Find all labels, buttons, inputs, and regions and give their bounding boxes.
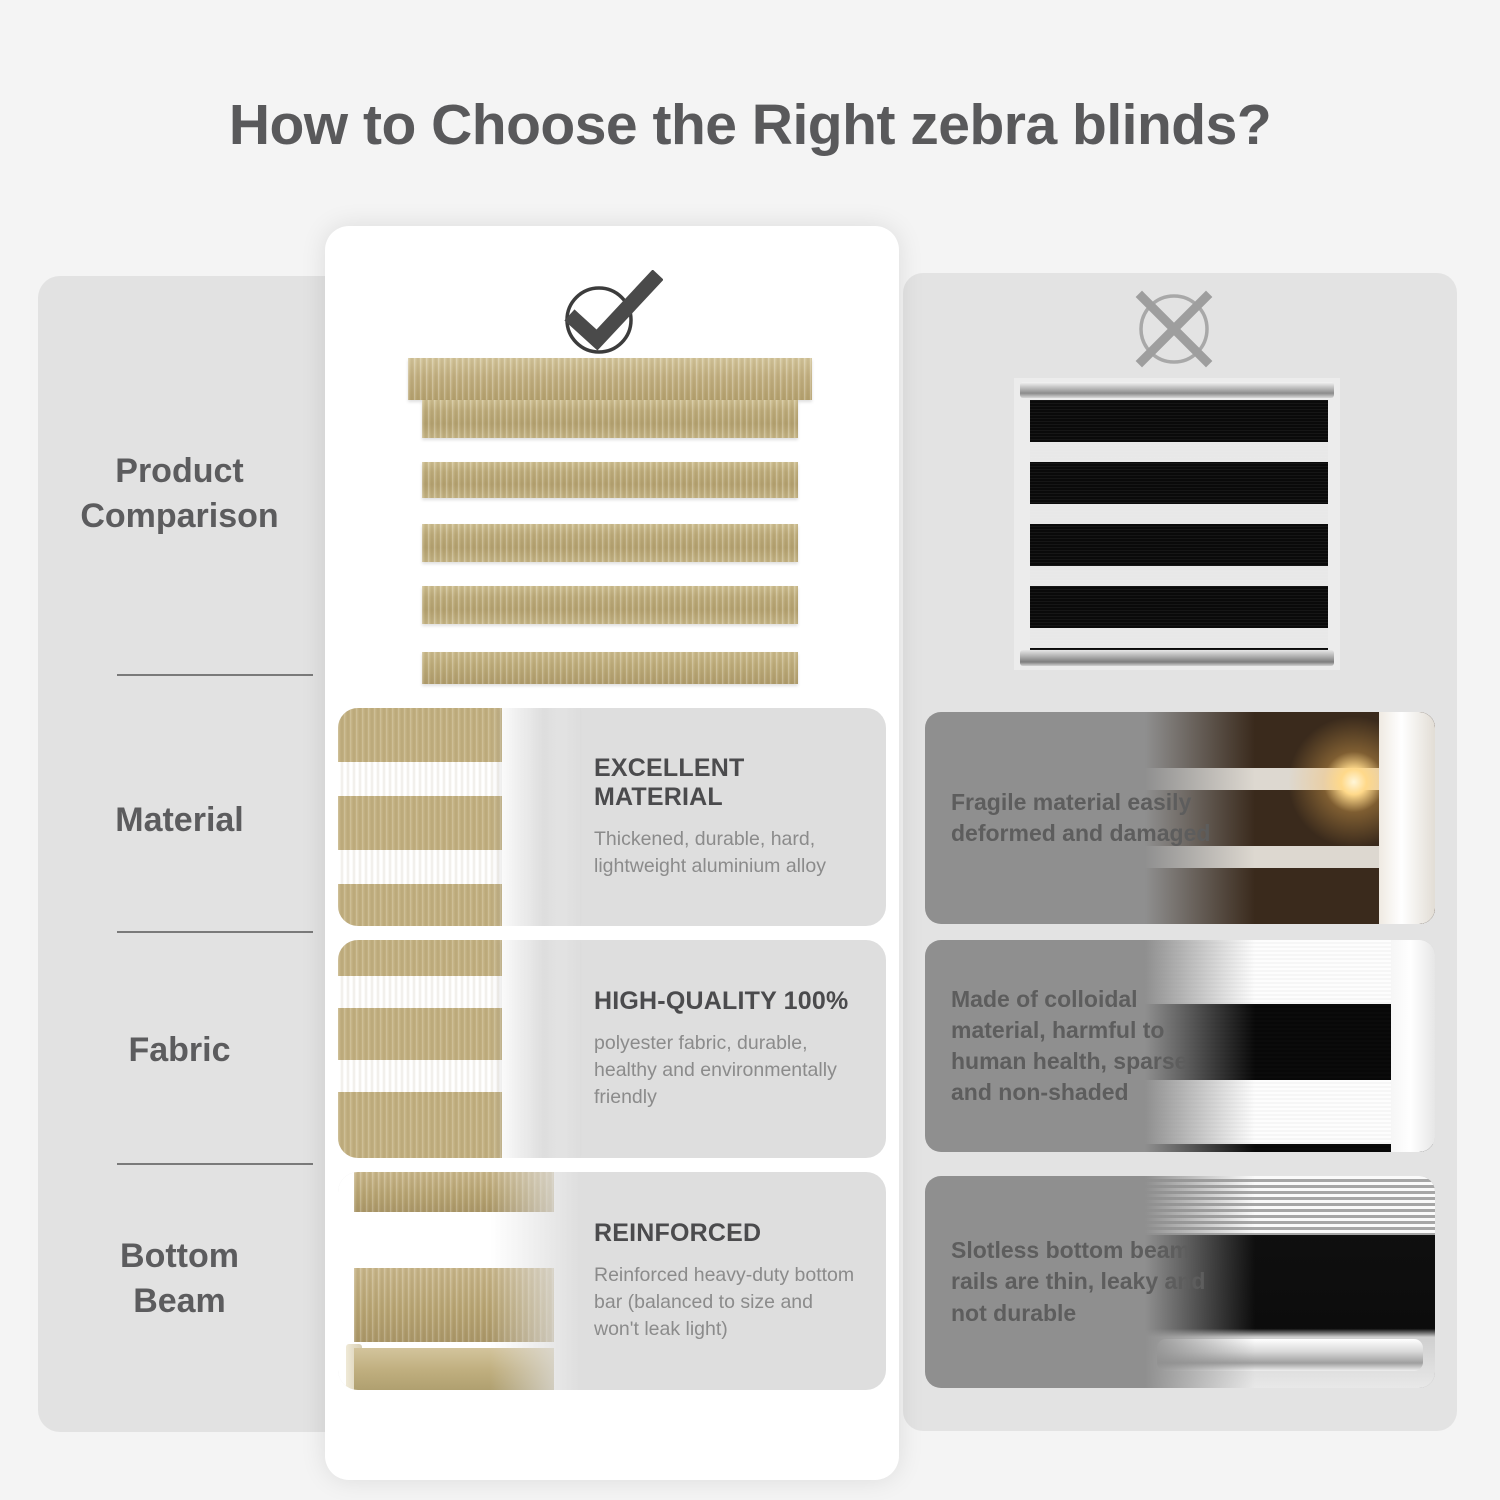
good-card-fabric-body: polyester fabric, durable, healthy and e… bbox=[594, 1030, 862, 1111]
blind-slat bbox=[422, 586, 798, 624]
blind-top-rail bbox=[1020, 382, 1334, 398]
wood-grain-overlay bbox=[338, 940, 580, 1158]
hero-image-wood-zebra-blind bbox=[408, 358, 812, 698]
row-label-fabric: Fabric bbox=[38, 1028, 321, 1073]
row-label-product-comparison-line1: Product bbox=[38, 449, 321, 494]
wood-grain-overlay bbox=[338, 708, 580, 926]
reinforced-bottom-bar bbox=[354, 1348, 554, 1390]
blind-slat bbox=[422, 462, 798, 498]
bad-card-bottom-beam[interactable]: Slotless bottom beam rails are thin, lea… bbox=[925, 1176, 1435, 1388]
blind-bottom-rail bbox=[1020, 650, 1334, 666]
rail-divider-3 bbox=[117, 1163, 313, 1165]
check-circle-icon bbox=[553, 270, 663, 360]
row-label-bottom-beam-line2: Beam bbox=[38, 1279, 321, 1324]
window-frame bbox=[1379, 712, 1435, 924]
window-frame bbox=[502, 940, 580, 1158]
good-card-bottom-beam-heading: REINFORCED bbox=[594, 1219, 872, 1248]
row-label-bottom-beam: Bottom Beam bbox=[38, 1234, 321, 1324]
blind-slat bbox=[354, 1172, 554, 1212]
good-card-fabric[interactable]: HIGH-QUALITY 100% polyester fabric, dura… bbox=[338, 940, 886, 1158]
blind-slat bbox=[422, 524, 798, 562]
bad-card-bottom-beam-body: Slotless bottom beam rails are thin, lea… bbox=[951, 1235, 1211, 1328]
blind-fabric-sheen bbox=[1030, 400, 1328, 650]
good-card-bottom-beam-text: REINFORCED Reinforced heavy-duty bottom … bbox=[594, 1172, 872, 1390]
wood-zebra-blind-closeup-photo bbox=[338, 708, 580, 926]
good-card-material-body: Thickened, durable, hard, lightweight al… bbox=[594, 826, 862, 880]
window-frame bbox=[502, 708, 580, 926]
reinforced-bottom-bar-photo bbox=[338, 1172, 580, 1390]
row-label-bottom-beam-line1: Bottom bbox=[38, 1234, 321, 1279]
bad-card-fabric-body: Made of colloidal material, harmful to h… bbox=[951, 984, 1211, 1108]
page-title: How to Choose the Right zebra blinds? bbox=[0, 92, 1500, 158]
good-card-material[interactable]: EXCELLENT MATERIAL Thickened, durable, h… bbox=[338, 708, 886, 926]
bad-card-material-text: Fragile material easily deformed and dam… bbox=[951, 712, 1211, 924]
bad-card-fabric-text: Made of colloidal material, harmful to h… bbox=[951, 940, 1211, 1152]
good-card-bottom-beam-body: Reinforced heavy-duty bottom bar (balanc… bbox=[594, 1262, 862, 1343]
bad-card-fabric[interactable]: Made of colloidal material, harmful to h… bbox=[925, 940, 1435, 1152]
blind-headrail bbox=[408, 358, 812, 400]
cross-circle-icon bbox=[1128, 285, 1220, 373]
window-frame bbox=[1391, 940, 1435, 1152]
hero-image-black-zebra-blind bbox=[1014, 378, 1340, 670]
wood-zebra-fabric-closeup-photo bbox=[338, 940, 580, 1158]
bottom-bar-illustration bbox=[338, 1172, 580, 1390]
good-card-material-heading: EXCELLENT MATERIAL bbox=[594, 754, 872, 812]
rail-divider-2 bbox=[117, 931, 313, 933]
bad-card-material[interactable]: Fragile material easily deformed and dam… bbox=[925, 712, 1435, 924]
bad-card-bottom-beam-text: Slotless bottom beam rails are thin, lea… bbox=[951, 1176, 1211, 1388]
blind-slat bbox=[422, 400, 798, 438]
good-card-fabric-text: HIGH-QUALITY 100% polyester fabric, dura… bbox=[594, 940, 872, 1158]
blind-bottom-bar bbox=[422, 652, 798, 684]
rail-divider-1 bbox=[117, 674, 313, 676]
good-card-fabric-heading: HIGH-QUALITY 100% bbox=[594, 987, 872, 1016]
bad-card-material-body: Fragile material easily deformed and dam… bbox=[951, 787, 1211, 849]
row-label-material: Material bbox=[38, 798, 321, 843]
row-label-product-comparison-line2: Comparison bbox=[38, 494, 321, 539]
good-card-bottom-beam[interactable]: REINFORCED Reinforced heavy-duty bottom … bbox=[338, 1172, 886, 1390]
row-label-product-comparison: Product Comparison bbox=[38, 449, 321, 539]
good-card-material-text: EXCELLENT MATERIAL Thickened, durable, h… bbox=[594, 708, 872, 926]
blind-slat bbox=[354, 1268, 554, 1342]
